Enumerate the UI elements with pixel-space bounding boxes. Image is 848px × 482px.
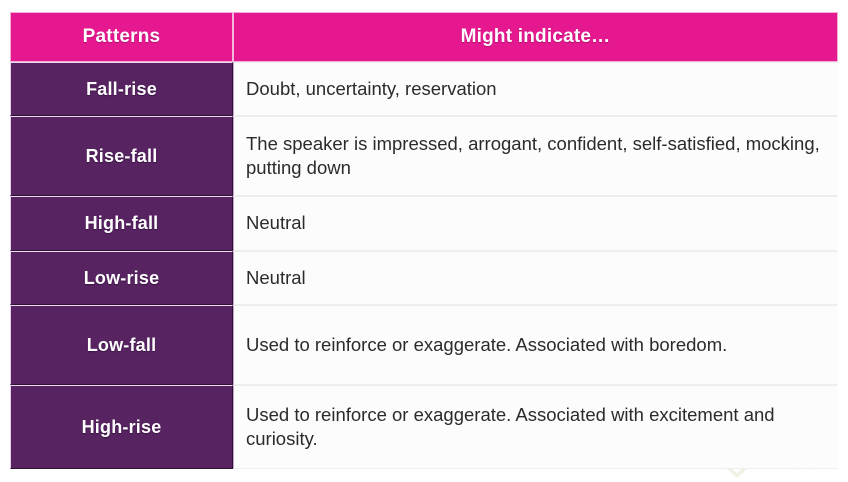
indication-cell-low-fall: Used to reinforce or exaggerate. Associa… [233, 305, 838, 385]
indication-cell-high-fall: Neutral [233, 196, 838, 251]
indication-cell-low-rise: Neutral [233, 251, 838, 305]
table-row: Rise-fall The speaker is impressed, arro… [10, 116, 838, 196]
table-body: Fall-rise Doubt, uncertainty, reservatio… [10, 62, 838, 469]
pattern-cell-fall-rise: Fall-rise [10, 62, 233, 116]
pattern-cell-low-rise: Low-rise [10, 251, 233, 305]
intonation-patterns-table-wrapper: Patterns Might indicate… Fall-rise Doubt… [10, 12, 838, 469]
column-header-patterns: Patterns [10, 12, 233, 62]
pattern-cell-high-fall: High-fall [10, 196, 233, 251]
table-row: Fall-rise Doubt, uncertainty, reservatio… [10, 62, 838, 116]
table-row: High-fall Neutral [10, 196, 838, 251]
indication-cell-fall-rise: Doubt, uncertainty, reservation [233, 62, 838, 116]
intonation-patterns-table: Patterns Might indicate… Fall-rise Doubt… [10, 12, 838, 469]
table-header: Patterns Might indicate… [10, 12, 838, 62]
pattern-cell-low-fall: Low-fall [10, 305, 233, 385]
indication-text: Neutral [246, 211, 823, 235]
indication-text: The speaker is impressed, arrogant, conf… [246, 132, 823, 180]
indication-cell-high-rise: Used to reinforce or exaggerate. Associa… [233, 385, 838, 469]
table-row: Low-fall Used to reinforce or exaggerate… [10, 305, 838, 385]
indication-cell-rise-fall: The speaker is impressed, arrogant, conf… [233, 116, 838, 196]
table-row: Low-rise Neutral [10, 251, 838, 305]
table-row: High-rise Used to reinforce or exaggerat… [10, 385, 838, 469]
table-screenshot: Platzi Patterns Might indicate… Fall-ris… [0, 0, 848, 482]
column-header-might-indicate: Might indicate… [233, 12, 838, 62]
pattern-cell-high-rise: High-rise [10, 385, 233, 469]
indication-text: Neutral [246, 266, 823, 290]
indication-text: Used to reinforce or exaggerate. Associa… [246, 403, 823, 451]
pattern-cell-rise-fall: Rise-fall [10, 116, 233, 196]
table-header-row: Patterns Might indicate… [10, 12, 838, 62]
indication-text: Used to reinforce or exaggerate. Associa… [246, 333, 823, 357]
indication-text: Doubt, uncertainty, reservation [246, 77, 823, 101]
